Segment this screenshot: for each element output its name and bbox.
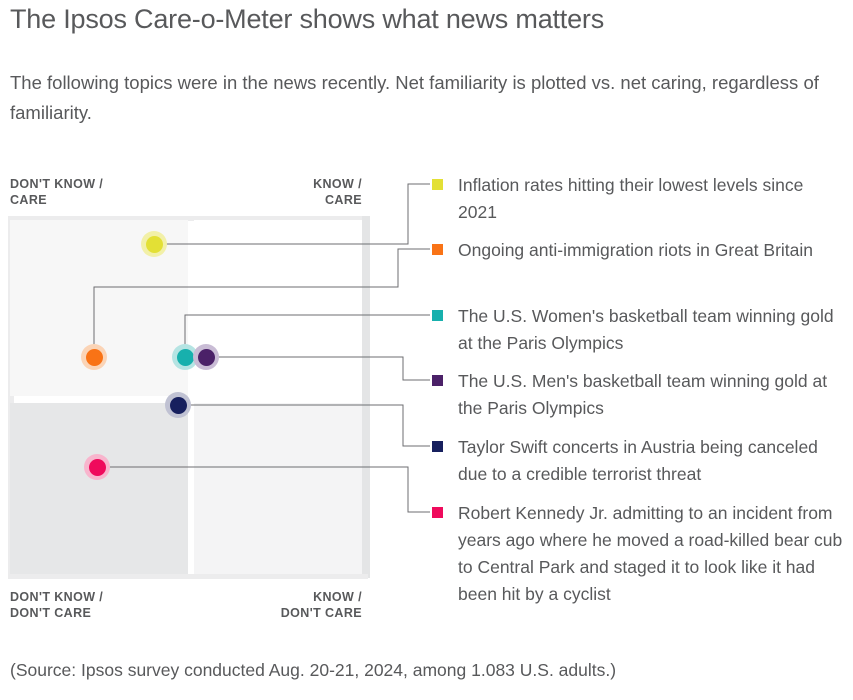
legend-item-label: Inflation rates hitting their lowest lev… (458, 172, 847, 226)
data-point-core (177, 349, 194, 366)
legend-item[interactable]: The U.S. Men's basketball team winning g… (432, 368, 847, 422)
quadrant-label-know-care: KNOW / CARE (188, 176, 362, 208)
page-subtitle: The following topics were in the news re… (10, 68, 820, 128)
legend-item-label: Robert Kennedy Jr. admitting to an incid… (458, 500, 847, 608)
legend-item[interactable]: Ongoing anti-immigration riots in Great … (432, 237, 847, 264)
page-title: The Ipsos Care-o-Meter shows what news m… (10, 2, 845, 36)
legend-swatch-icon (432, 441, 443, 452)
quadrant-label-dont-know-dont-care: DON'T KNOW / DON'T CARE (10, 589, 103, 621)
legend-swatch-icon (432, 310, 443, 321)
data-point-riots[interactable] (81, 344, 107, 370)
quadrant-know-care (194, 220, 362, 396)
data-point-core (198, 349, 215, 366)
quadrant-dont-know-dont-care (10, 403, 188, 574)
source-note: (Source: Ipsos survey conducted Aug. 20-… (10, 660, 616, 681)
legend-item-label: Ongoing anti-immigration riots in Great … (458, 237, 847, 264)
data-point-inflation[interactable] (141, 231, 167, 257)
data-point-core (89, 459, 106, 476)
legend-item[interactable]: Inflation rates hitting their lowest lev… (432, 172, 847, 226)
legend-item-label: The U.S. Women's basketball team winning… (458, 303, 847, 357)
legend-swatch-icon (432, 507, 443, 518)
quadrant-label-dont-know-care: DON'T KNOW / CARE (10, 176, 103, 208)
plot-frame-bottom (8, 574, 368, 579)
data-point-taylor-swift[interactable] (165, 392, 191, 418)
legend-item[interactable]: Taylor Swift concerts in Austria being c… (432, 434, 847, 488)
legend-item-label: Taylor Swift concerts in Austria being c… (458, 434, 847, 488)
data-point-kennedy[interactable] (84, 454, 110, 480)
quadrant-know-dont-care (194, 403, 362, 574)
legend-item-label: The U.S. Men's basketball team winning g… (458, 368, 847, 422)
legend-item[interactable]: Robert Kennedy Jr. admitting to an incid… (432, 500, 847, 608)
legend-swatch-icon (432, 375, 443, 386)
plot-frame-right (362, 216, 370, 578)
quadrant-label-know-dont-care: KNOW / DON'T CARE (188, 589, 362, 621)
legend-swatch-icon (432, 244, 443, 255)
data-point-core (86, 349, 103, 366)
data-point-mens-basketball[interactable] (193, 344, 219, 370)
legend-swatch-icon (432, 179, 443, 190)
data-point-core (146, 236, 163, 253)
scatter-plot-area (10, 220, 368, 574)
data-point-core (170, 397, 187, 414)
legend-item[interactable]: The U.S. Women's basketball team winning… (432, 303, 847, 357)
